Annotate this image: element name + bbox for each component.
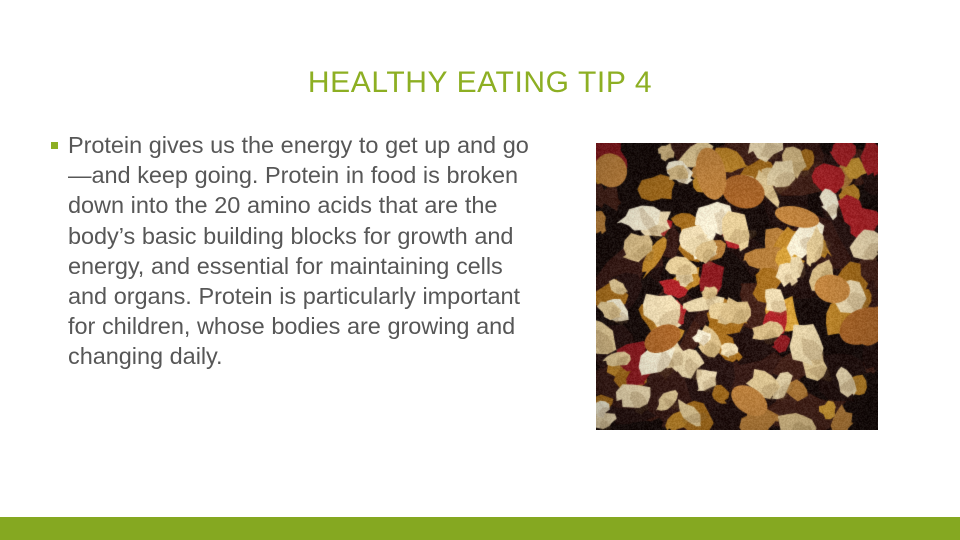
page-title: HEALTHY EATING TIP 4	[60, 66, 900, 99]
accent-band	[0, 517, 960, 540]
trail-mix-photo-canvas	[596, 143, 878, 430]
slide-canvas: HEALTHY EATING TIP 4 Protein gives us th…	[0, 0, 960, 540]
square-bullet-icon	[51, 142, 58, 149]
trail-mix-photo	[596, 143, 878, 430]
bullet-paragraph-text: Protein gives us the energy to get up an…	[68, 130, 544, 372]
body-content-placeholder: Protein gives us the energy to get up an…	[44, 130, 544, 372]
list-item: Protein gives us the energy to get up an…	[44, 130, 544, 372]
